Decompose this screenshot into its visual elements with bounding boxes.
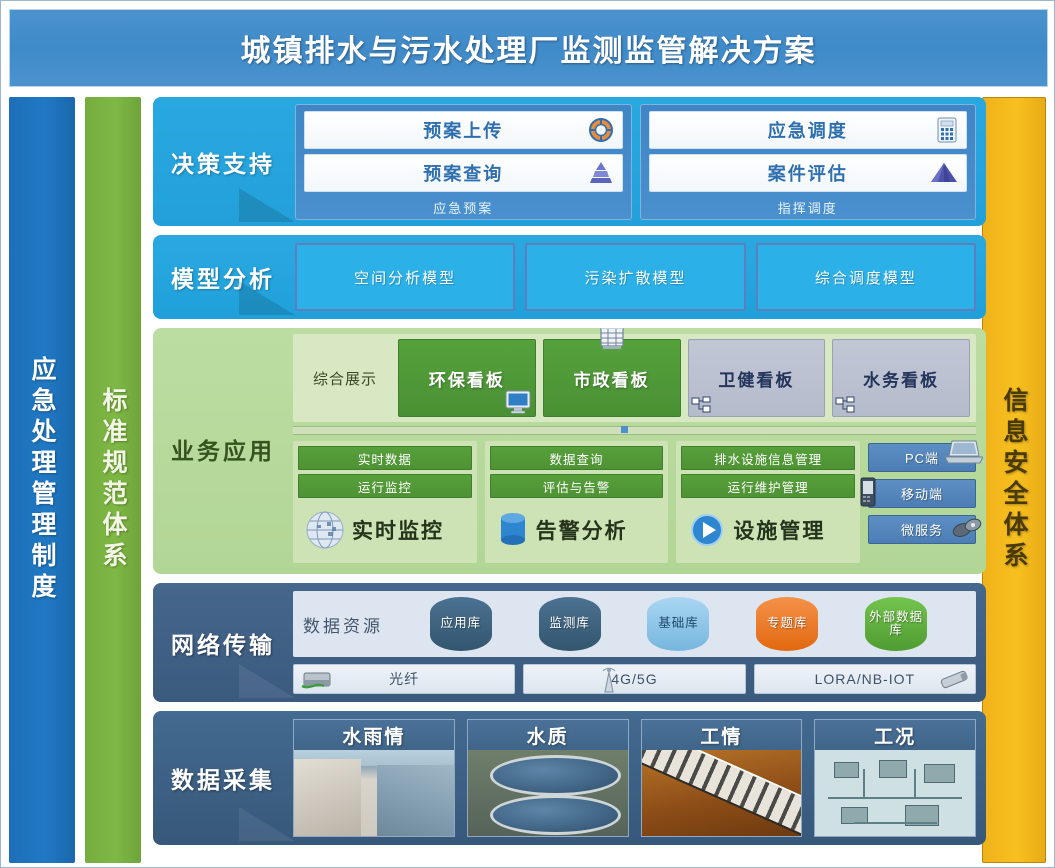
river-channel-photo	[293, 750, 455, 837]
module-chip-operation-monitor[interactable]: 运行监控	[298, 474, 472, 498]
lifebuoy-icon	[588, 117, 614, 143]
globe-icon	[304, 509, 346, 551]
antenna-tower-icon	[599, 666, 619, 694]
module-main-alarm-analysis[interactable]: 告警分析	[490, 502, 664, 558]
terminal-microservice[interactable]: 微服务	[868, 515, 976, 544]
page-title: 城镇排水与污水处理厂监测监管解决方案	[241, 26, 817, 70]
building-window-icon	[598, 328, 626, 350]
pillar-standard-label: 标准规范体系	[95, 387, 131, 573]
acquisition-card-water-quality[interactable]: 水质	[467, 719, 629, 837]
mobile-phone-icon	[857, 476, 879, 508]
pillar-standard-system: 标准规范体系	[85, 97, 141, 863]
business-modules: 实时数据 运行监控	[293, 441, 976, 563]
module-column-realtime: 实时数据 运行监控	[293, 441, 477, 563]
scada-schematic-photo	[814, 750, 976, 837]
arrow-shadow-icon	[239, 664, 295, 698]
center-stack: 决策支持 预案上传	[153, 97, 986, 863]
arrow-shadow-icon	[239, 807, 295, 841]
module-chip-drainage-facility-info[interactable]: 排水设施信息管理	[681, 446, 855, 470]
layer-data-acquisition-label: 数据采集	[153, 711, 293, 845]
kanban-environment[interactable]: 环保看板	[398, 339, 536, 417]
terminal-column: PC端 移动端	[868, 441, 976, 544]
database-thematic[interactable]: 专题库	[756, 597, 818, 651]
decision-group-plan: 预案上传 预案查询	[295, 104, 632, 220]
transport-link-lora[interactable]: LORA/NB-IOT	[754, 664, 976, 694]
pyramid-icon	[930, 161, 958, 185]
model-box-spatial[interactable]: 空间分析模型	[295, 243, 515, 311]
acquisition-card-conditions[interactable]: 工况	[814, 719, 976, 837]
layer-network-transmission: 网络传输 数据资源 应用库 监测库	[153, 583, 986, 702]
fiber-switch-icon	[300, 668, 334, 692]
module-main-facility-management[interactable]: 设施管理	[681, 502, 855, 558]
layer-network-transmission-label: 网络传输	[153, 583, 293, 702]
database-external[interactable]: 外部数据库	[865, 597, 927, 651]
gears-icon	[949, 514, 985, 542]
kanban-scrollbar[interactable]	[293, 426, 976, 435]
arrow-shadow-icon	[239, 281, 295, 315]
layer-business-application-label: 业务应用	[153, 414, 293, 484]
sedimentation-tank-photo	[467, 750, 629, 837]
layer-decision-support: 决策支持 预案上传	[153, 97, 986, 226]
layer-business-application: 业务应用 综合展示 环保看板	[153, 328, 986, 574]
layer-model-analysis-label: 模型分析	[153, 235, 293, 319]
decision-item-plan-upload[interactable]: 预案上传	[304, 111, 623, 149]
diagram-frame: 城镇排水与污水处理厂监测监管解决方案 应急处理管理制度 标准规范体系 信息安全体…	[0, 0, 1055, 868]
pillar-emergency-label: 应急处理管理制度	[24, 356, 60, 604]
pillar-information-security: 信息安全体系	[982, 97, 1046, 863]
play-circle-icon	[687, 510, 727, 550]
module-column-facility: 排水设施信息管理 运行维护管理 设施管理	[676, 441, 860, 563]
laptop-icon	[943, 438, 983, 468]
kanban-municipal[interactable]: 市政看板	[543, 339, 681, 417]
model-box-dispatch[interactable]: 综合调度模型	[756, 243, 976, 311]
module-chip-assessment-alarm[interactable]: 评估与告警	[490, 474, 664, 498]
database-monitoring[interactable]: 监测库	[539, 597, 601, 651]
layer-data-acquisition: 数据采集 水雨情 水质 工情	[153, 711, 986, 845]
terminal-pc[interactable]: PC端	[868, 443, 976, 472]
kanban-water-affairs[interactable]: 水务看板	[832, 339, 970, 417]
data-resource-title: 数据资源	[303, 612, 383, 637]
layer-model-analysis: 模型分析 空间分析模型 污染扩散模型 综合调度模型	[153, 235, 986, 319]
model-box-pollution[interactable]: 污染扩散模型	[525, 243, 745, 311]
kanban-health[interactable]: 卫健看板	[688, 339, 826, 417]
decision-group-command: 应急调度	[640, 104, 977, 220]
pillar-security-label: 信息安全体系	[996, 387, 1032, 573]
database-application[interactable]: 应用库	[430, 597, 492, 651]
page-title-bar: 城镇排水与污水处理厂监测监管解决方案	[9, 9, 1048, 87]
transport-link-4g5g[interactable]: 4G/5G	[523, 664, 745, 694]
kanban-panel-title: 综合展示	[299, 339, 391, 417]
database-icon	[496, 510, 530, 550]
network-node-icon	[835, 396, 855, 414]
module-main-realtime-monitor[interactable]: 实时监控	[298, 502, 472, 558]
scrollbar-knob[interactable]	[621, 426, 628, 433]
transport-links: 光纤 4G/5G LORA/NB-IOT	[293, 664, 976, 694]
network-node-icon	[691, 396, 711, 414]
module-chip-data-query[interactable]: 数据查询	[490, 446, 664, 470]
acquisition-card-hydrology[interactable]: 水雨情	[293, 719, 455, 837]
calculator-icon	[936, 117, 958, 143]
kanban-panel: 综合展示 环保看板 市政看板	[293, 334, 976, 422]
pyramid-layers-icon	[588, 161, 614, 185]
pipeline-trench-photo	[641, 750, 803, 837]
decision-group-command-caption: 指挥调度	[649, 197, 968, 217]
monitor-icon	[505, 390, 531, 414]
decision-group-plan-caption: 应急预案	[304, 197, 623, 217]
transport-link-fiber[interactable]: 光纤	[293, 664, 515, 694]
pillar-emergency-management: 应急处理管理制度	[9, 97, 75, 863]
terminal-mobile[interactable]: 移动端	[868, 479, 976, 508]
arrow-shadow-icon	[239, 188, 295, 222]
acquisition-card-works[interactable]: 工情	[641, 719, 803, 837]
database-basic[interactable]: 基础库	[647, 597, 709, 651]
module-chip-realtime-data[interactable]: 实时数据	[298, 446, 472, 470]
decision-item-case-assessment[interactable]: 案件评估	[649, 154, 968, 192]
data-resource-panel: 数据资源 应用库 监测库 基础库	[293, 591, 976, 657]
sensor-module-icon	[937, 667, 973, 691]
decision-item-plan-query[interactable]: 预案查询	[304, 154, 623, 192]
module-chip-operation-maintenance[interactable]: 运行维护管理	[681, 474, 855, 498]
layer-decision-support-label: 决策支持	[153, 97, 293, 226]
module-column-alarm: 数据查询 评估与告警 告警分析	[485, 441, 669, 563]
decision-item-emergency-dispatch[interactable]: 应急调度	[649, 111, 968, 149]
